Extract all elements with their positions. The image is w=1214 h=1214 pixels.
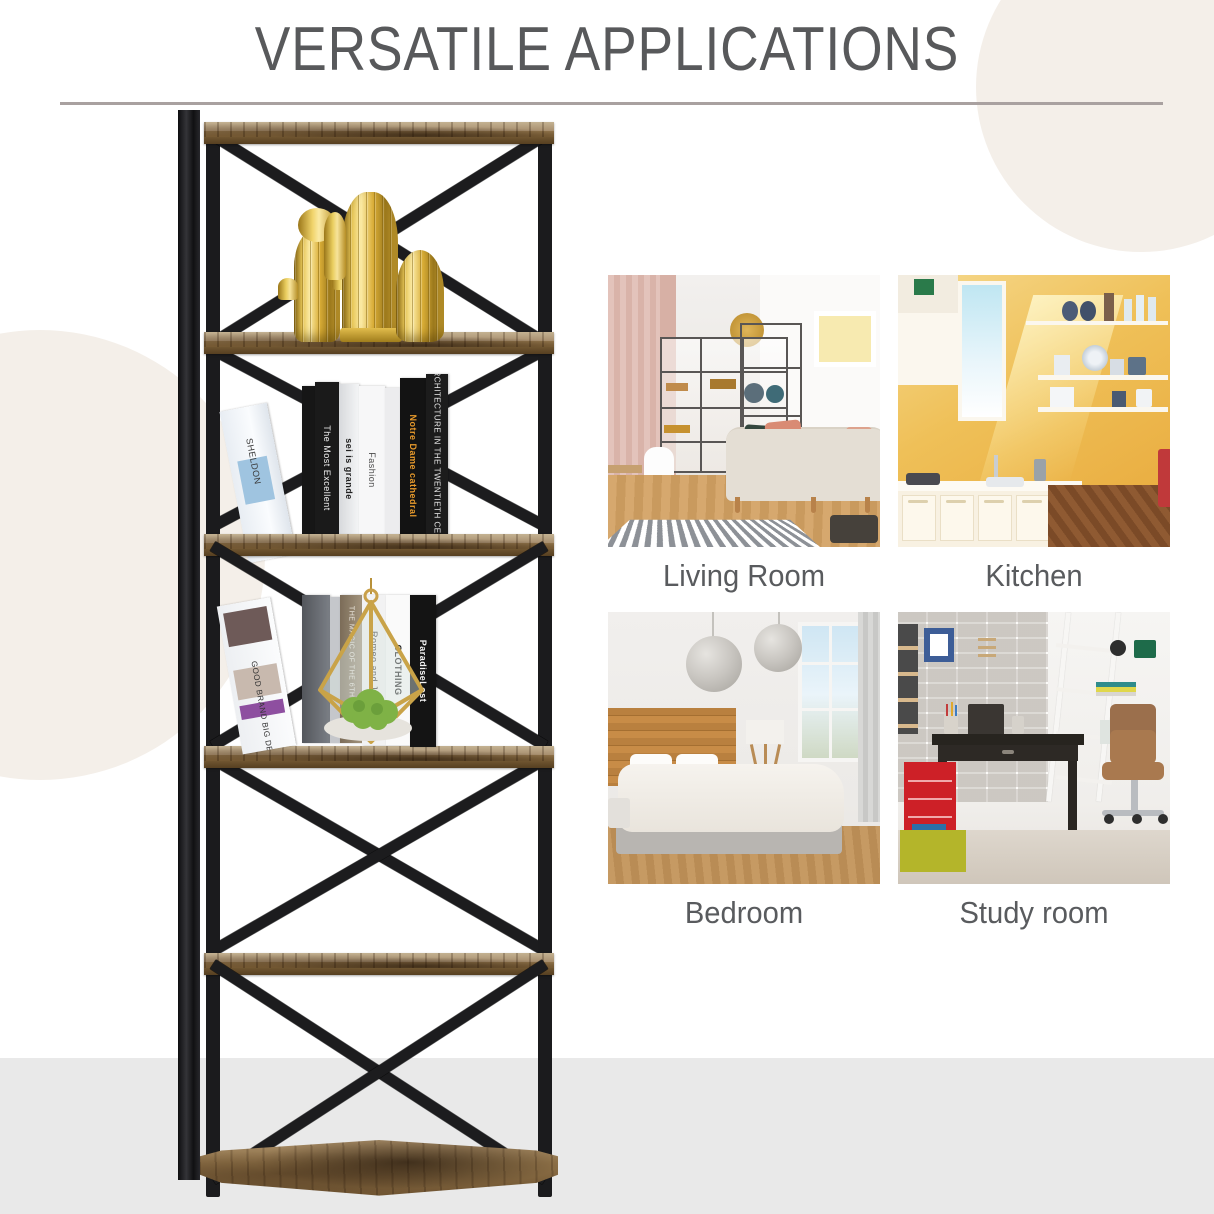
application-scenarios-grid: Living Room bbox=[608, 275, 1178, 965]
potted-plant bbox=[1134, 640, 1156, 658]
page-title: VERSATILE APPLICATIONS bbox=[85, 14, 1129, 85]
kitchen-window bbox=[958, 281, 1006, 421]
terrarium-svg bbox=[306, 578, 436, 758]
stacked-books bbox=[1096, 682, 1136, 696]
scenario-caption-living-room: Living Room bbox=[616, 558, 872, 594]
cookware bbox=[906, 473, 940, 485]
gold-cactus-pot bbox=[340, 328, 402, 342]
small-plant bbox=[1012, 716, 1024, 734]
bedroom-photo bbox=[608, 612, 880, 884]
shelf-board-bottom-corner bbox=[200, 1140, 558, 1198]
sink bbox=[986, 477, 1024, 487]
curtain bbox=[858, 612, 880, 822]
blue-picture-frame bbox=[924, 628, 954, 662]
living-room-photo bbox=[608, 275, 880, 547]
book-spacer-dark-1 bbox=[302, 386, 315, 554]
desk-top bbox=[932, 734, 1084, 745]
alarm-clock bbox=[1110, 640, 1126, 656]
header-divider-rule bbox=[60, 102, 1163, 105]
x-brace-bay-4 bbox=[212, 760, 546, 950]
scenario-caption-kitchen: Kitchen bbox=[906, 558, 1162, 594]
book-most-excellent: The Most Excellent bbox=[315, 382, 339, 554]
study-room-photo bbox=[898, 612, 1170, 884]
product-image-corner-shelf: SHELDON The Most Excellent sei is grande… bbox=[178, 110, 578, 1210]
floor-lamp-shade bbox=[746, 720, 784, 744]
red-towel bbox=[1158, 449, 1170, 507]
shelf-board-1 bbox=[204, 122, 554, 144]
laptop-screen bbox=[968, 704, 1004, 736]
scenario-caption-study-room: Study room bbox=[906, 895, 1162, 931]
scenario-cell-study-room[interactable]: Study room bbox=[898, 612, 1170, 931]
scenario-caption-bedroom: Bedroom bbox=[616, 895, 872, 931]
wall-art bbox=[814, 311, 876, 367]
striped-rug bbox=[608, 520, 820, 547]
scenario-cell-kitchen[interactable]: Kitchen bbox=[898, 275, 1170, 594]
scenario-cell-bedroom[interactable]: Bedroom bbox=[608, 612, 880, 931]
gold-cactus-round bbox=[396, 250, 444, 342]
kitchen-shelf-mid bbox=[1038, 375, 1168, 380]
nightstand bbox=[608, 798, 630, 828]
pendant-light-right bbox=[754, 624, 802, 672]
herringbone-floor bbox=[1048, 485, 1170, 547]
gold-geometric-terrarium bbox=[306, 578, 436, 758]
decorative-plate bbox=[1082, 345, 1108, 371]
book-fashion: Fashion bbox=[359, 386, 385, 554]
office-chair-seat bbox=[1102, 762, 1164, 780]
books-group-shelf-2: SHELDON The Most Excellent sei is grande… bbox=[236, 372, 526, 554]
duvet bbox=[618, 764, 844, 832]
frame-post-center bbox=[178, 110, 200, 1180]
chalkboard-strip bbox=[898, 624, 918, 734]
gold-cactus-small-arm-left bbox=[278, 278, 298, 300]
gold-cactus-tall-arm bbox=[324, 212, 346, 280]
yellow-green-box bbox=[900, 830, 966, 872]
kitchen-shelf-top bbox=[1026, 321, 1168, 325]
gold-cactus-decor bbox=[278, 160, 458, 342]
floor-cushion bbox=[830, 515, 878, 543]
book-sei-is-grande: sei is grande bbox=[339, 384, 359, 554]
book-spacer-light bbox=[385, 388, 400, 554]
pendant-light-left bbox=[686, 636, 742, 692]
book-notre-dame: Notre Dame cathedral bbox=[400, 378, 426, 554]
kettle bbox=[1034, 459, 1046, 481]
scenario-cell-living-room[interactable]: Living Room bbox=[608, 275, 880, 594]
sofa bbox=[726, 429, 880, 501]
kitchen-photo bbox=[898, 275, 1170, 547]
book-architecture: ARCHITECTURE IN THE TWENTIETH CENTURY bbox=[426, 374, 448, 554]
kitchen-shelf-low bbox=[1038, 407, 1168, 412]
gold-cactus-tall bbox=[342, 192, 398, 342]
